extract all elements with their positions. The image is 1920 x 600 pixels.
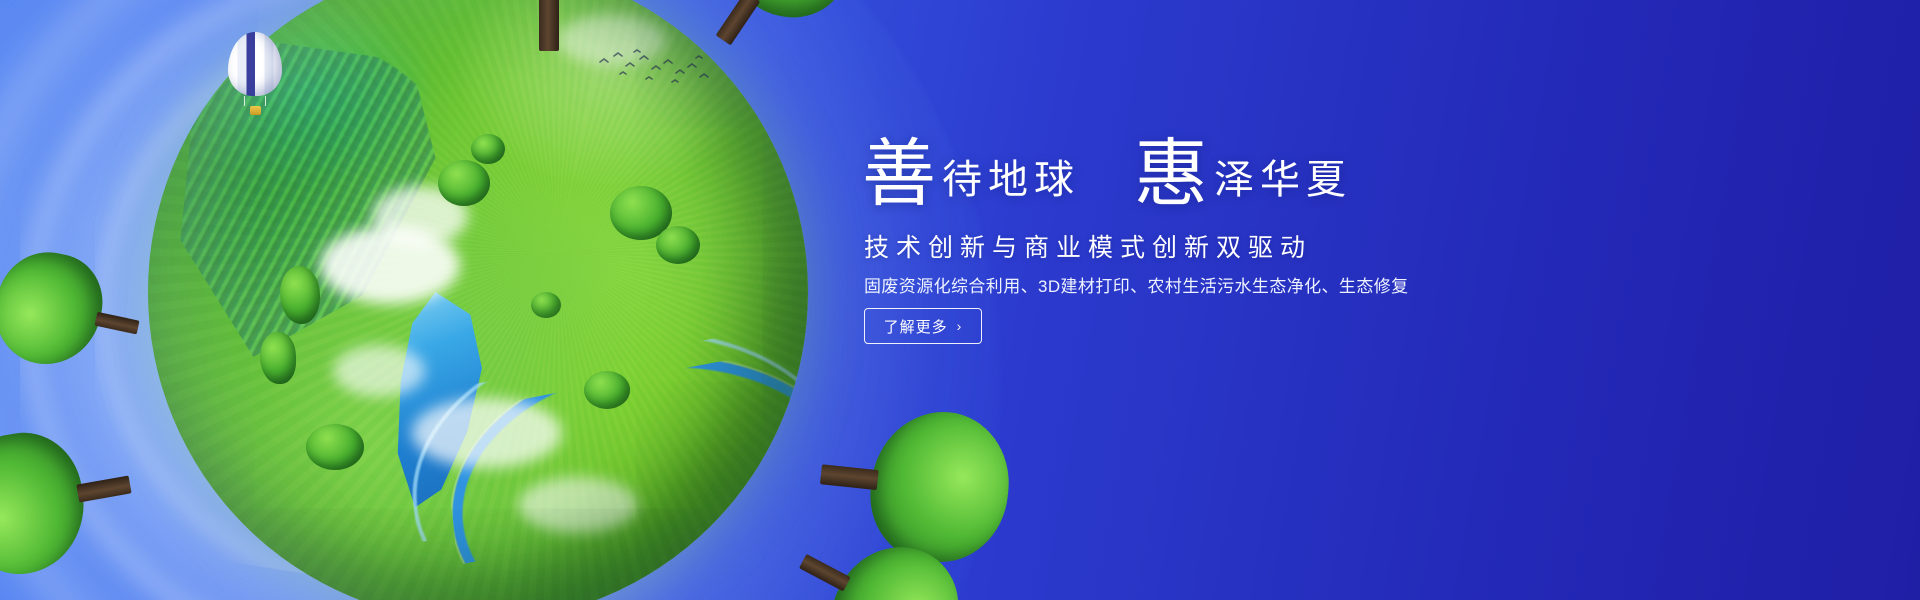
subtitle: 技术创新与商业模式创新双驱动 xyxy=(864,228,1312,264)
hero-banner: 善待地球惠泽华夏 技术创新与商业模式创新双驱动 固废资源化综合利用、3D建材打印… xyxy=(0,0,1920,600)
balloon-basket xyxy=(250,106,261,115)
chevron-right-icon: › xyxy=(957,319,963,333)
tree-trunk xyxy=(716,0,761,45)
tree-trunk xyxy=(94,311,140,334)
tree-trunk xyxy=(539,0,560,51)
headline-rest-2: 泽华夏 xyxy=(1214,157,1352,202)
learn-more-button[interactable]: 了解更多 › xyxy=(864,308,982,344)
headline-lead-char-1: 善 xyxy=(862,134,936,216)
tree-icon xyxy=(0,415,144,584)
balloon-lines xyxy=(244,96,266,106)
tree-crown xyxy=(0,424,95,584)
tree-icon xyxy=(0,243,152,383)
headline: 善待地球惠泽华夏 xyxy=(862,138,1352,212)
description-text: 固废资源化综合利用、3D建材打印、农村生活污水生态净化、生态修复 xyxy=(864,272,1409,297)
banner-content: 善待地球惠泽华夏 技术创新与商业模式创新双驱动 固废资源化综合利用、3D建材打印… xyxy=(862,0,1602,600)
tree-trunk xyxy=(799,553,851,592)
tree-trunk xyxy=(76,475,132,502)
bird-flock-icon xyxy=(596,48,716,88)
tree-icon xyxy=(434,0,664,36)
headline-lead-char-2: 惠 xyxy=(1134,134,1208,216)
balloon-envelope xyxy=(228,32,282,96)
learn-more-label: 了解更多 xyxy=(884,316,948,337)
hot-air-balloon-icon xyxy=(228,32,282,118)
headline-rest-1: 待地球 xyxy=(942,157,1080,202)
tree-crown xyxy=(0,243,112,374)
